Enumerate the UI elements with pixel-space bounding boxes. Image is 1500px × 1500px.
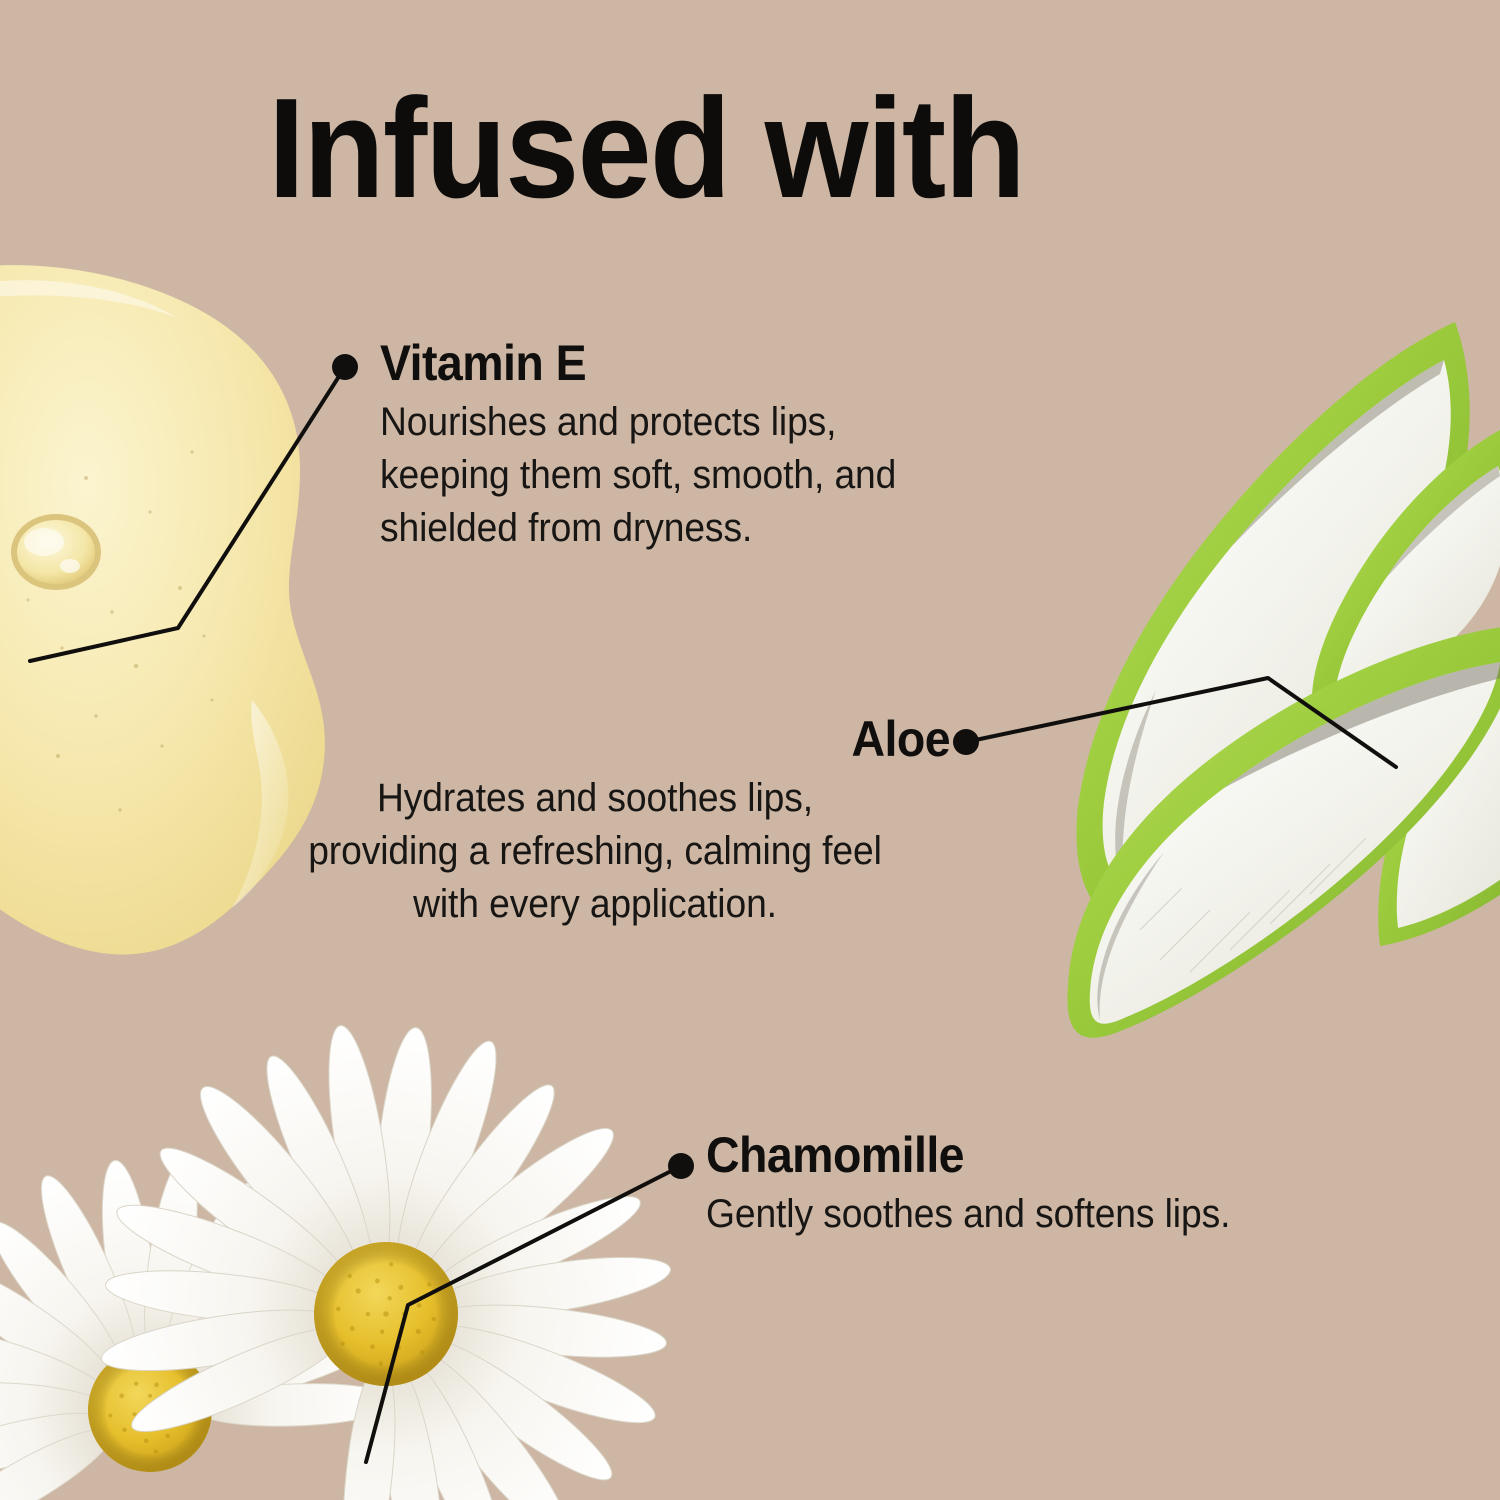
infographic-canvas: Infused with Vitamin E Nourishes and pro… xyxy=(0,0,1500,1500)
desc-line: keeping them soft, smooth, and xyxy=(380,453,896,497)
ingredient-name-chamomille: Chamomille xyxy=(706,1128,1357,1182)
page-title: Infused with xyxy=(268,78,1024,220)
callout-dot-chamomille xyxy=(668,1153,694,1179)
callout-dot-vitamin-e xyxy=(332,354,358,380)
desc-line: providing a refreshing, calming feel xyxy=(308,829,882,873)
ingredient-description-aloe: Hydrates and soothes lips, providing a r… xyxy=(265,772,925,932)
ingredient-name-aloe: Aloe xyxy=(290,712,950,766)
desc-line: shielded from dryness. xyxy=(380,506,752,550)
callout-aloe: Aloe Hydrates and soothes lips, providin… xyxy=(240,712,950,932)
desc-line: with every application. xyxy=(413,882,777,926)
leader-line-chamomille xyxy=(366,1166,681,1462)
leader-line-aloe xyxy=(966,678,1396,767)
ingredient-description-vitamin-e: Nourishes and protects lips, keeping the… xyxy=(380,396,975,556)
desc-line: Nourishes and protects lips, xyxy=(380,400,836,444)
ingredient-description-chamomille: Gently soothes and softens lips. xyxy=(706,1188,1357,1241)
desc-line: Gently soothes and softens lips. xyxy=(706,1192,1230,1236)
desc-line: Hydrates and soothes lips, xyxy=(377,776,813,820)
callout-dot-aloe xyxy=(953,729,979,755)
callout-vitamin-e: Vitamin E Nourishes and protects lips, k… xyxy=(380,336,1020,556)
leader-line-vitamin-e xyxy=(30,367,345,661)
ingredient-name-vitamin-e: Vitamin E xyxy=(380,336,975,390)
callout-chamomille: Chamomille Gently soothes and softens li… xyxy=(706,1128,1406,1241)
